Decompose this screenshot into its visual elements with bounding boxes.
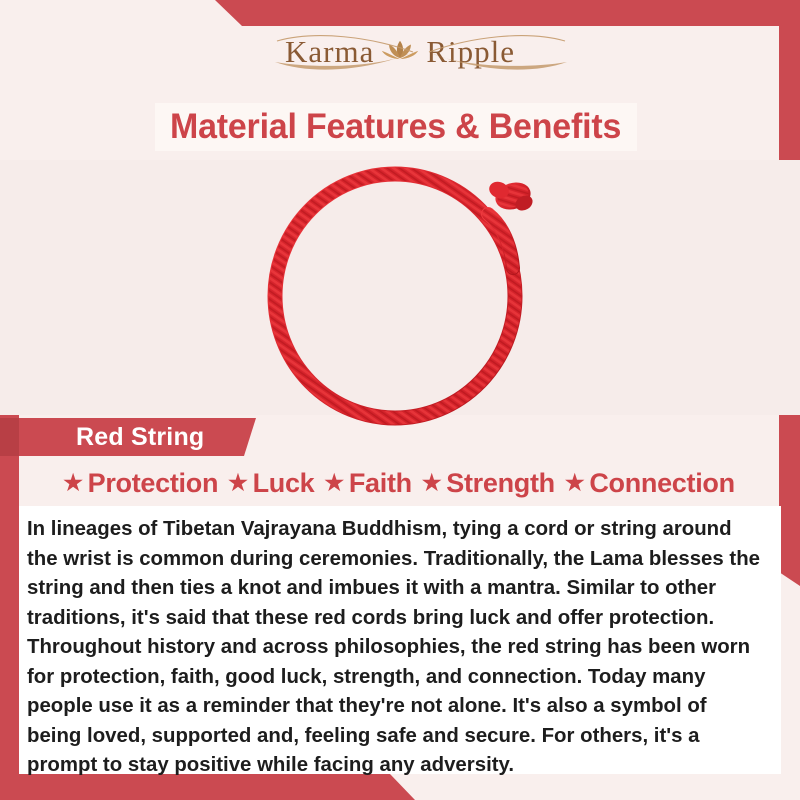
bracelet-loop-braid — [275, 174, 515, 418]
hero-panel — [0, 160, 800, 415]
lotus-icon — [380, 38, 420, 66]
star-icon: ★ — [324, 472, 343, 494]
benefit-label-protection: Protection — [88, 468, 219, 499]
top-accent-bar — [0, 0, 800, 26]
star-icon: ★ — [228, 472, 247, 494]
page-title: Material Features & Benefits — [170, 107, 621, 147]
star-icon: ★ — [565, 472, 584, 494]
bracelet-knot — [487, 178, 535, 214]
star-icon: ★ — [63, 472, 82, 494]
benefit-label-faith: Faith — [349, 468, 412, 499]
ribbon-left-strip — [0, 418, 19, 456]
benefit-label-connection: Connection — [589, 468, 735, 499]
red-string-bracelet-image — [245, 148, 575, 438]
description-panel: In lineages of Tibetan Vajrayana Buddhis… — [19, 506, 781, 774]
section-label: Red String — [76, 423, 204, 452]
brand-logo-inner: Karma Ripple — [285, 34, 515, 70]
benefit-item-connection: ★ Connection — [560, 468, 740, 499]
section-ribbon: Red String — [19, 418, 256, 456]
benefits-row: ★ Protection ★ Luck ★ Faith ★ Strength ★… — [19, 462, 779, 504]
benefit-item-protection: ★ Protection — [58, 468, 223, 499]
brand-logo: Karma Ripple — [0, 34, 800, 96]
title-banner: Material Features & Benefits — [155, 103, 637, 151]
benefit-label-strength: Strength — [446, 468, 555, 499]
star-icon: ★ — [422, 472, 441, 494]
benefit-item-strength: ★ Strength — [417, 468, 560, 499]
benefit-item-faith: ★ Faith — [319, 468, 416, 499]
brand-name-right: Ripple — [426, 34, 515, 70]
benefit-item-luck: ★ Luck — [223, 468, 319, 499]
lotus-glyph — [380, 38, 420, 62]
brand-name-left: Karma — [285, 34, 374, 70]
description-text: In lineages of Tibetan Vajrayana Buddhis… — [27, 514, 760, 780]
benefit-label-luck: Luck — [253, 468, 315, 499]
infographic-page: Karma Ripple Material Features & Benefit… — [0, 0, 800, 800]
